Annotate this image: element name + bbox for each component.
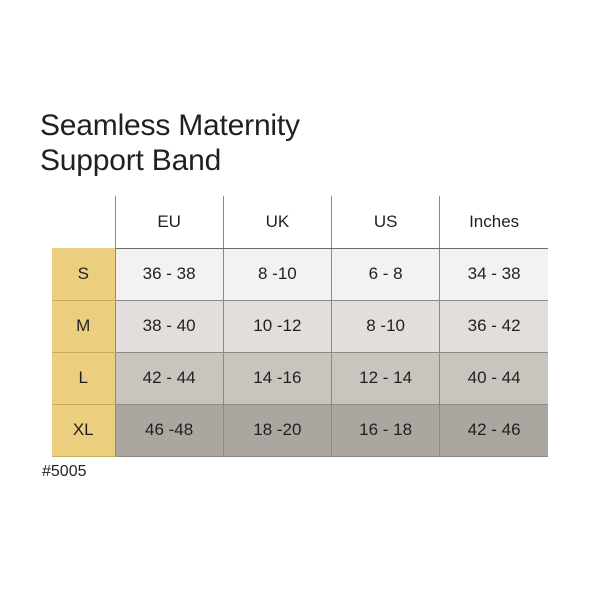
cell-xl-eu: 46 -48 [115,404,223,456]
size-chart-table: EU UK US Inches S 36 - 38 8 -10 6 - 8 34… [52,196,548,457]
cell-s-inches: 34 - 38 [440,248,548,300]
table-row: S 36 - 38 8 -10 6 - 8 34 - 38 [52,248,548,300]
cell-xl-inches: 42 - 46 [440,404,548,456]
cell-s-eu: 36 - 38 [115,248,223,300]
table-row: M 38 - 40 10 -12 8 -10 36 - 42 [52,300,548,352]
column-header-uk: UK [223,196,331,248]
row-size-label-xl: XL [52,404,115,456]
product-code: #5005 [42,463,87,481]
cell-l-us: 12 - 14 [332,352,440,404]
table-header-row: EU UK US Inches [52,196,548,248]
column-header-us: US [332,196,440,248]
page-title-line-2: Support Band [40,143,470,178]
table-row: L 42 - 44 14 -16 12 - 14 40 - 44 [52,352,548,404]
row-size-label-m: M [52,300,115,352]
cell-s-uk: 8 -10 [223,248,331,300]
column-header-eu: EU [115,196,223,248]
cell-m-eu: 38 - 40 [115,300,223,352]
cell-l-uk: 14 -16 [223,352,331,404]
cell-m-us: 8 -10 [332,300,440,352]
cell-l-eu: 42 - 44 [115,352,223,404]
table-row: XL 46 -48 18 -20 16 - 18 42 - 46 [52,404,548,456]
size-chart-page: Seamless Maternity Support Band EU UK US… [0,0,600,600]
cell-m-uk: 10 -12 [223,300,331,352]
cell-xl-uk: 18 -20 [223,404,331,456]
row-size-label-l: L [52,352,115,404]
cell-l-inches: 40 - 44 [440,352,548,404]
page-title: Seamless Maternity Support Band [40,108,470,178]
cell-xl-us: 16 - 18 [332,404,440,456]
page-title-line-1: Seamless Maternity [40,108,470,143]
column-header-inches: Inches [440,196,548,248]
column-header-size [52,196,115,248]
cell-m-inches: 36 - 42 [440,300,548,352]
row-size-label-s: S [52,248,115,300]
cell-s-us: 6 - 8 [332,248,440,300]
